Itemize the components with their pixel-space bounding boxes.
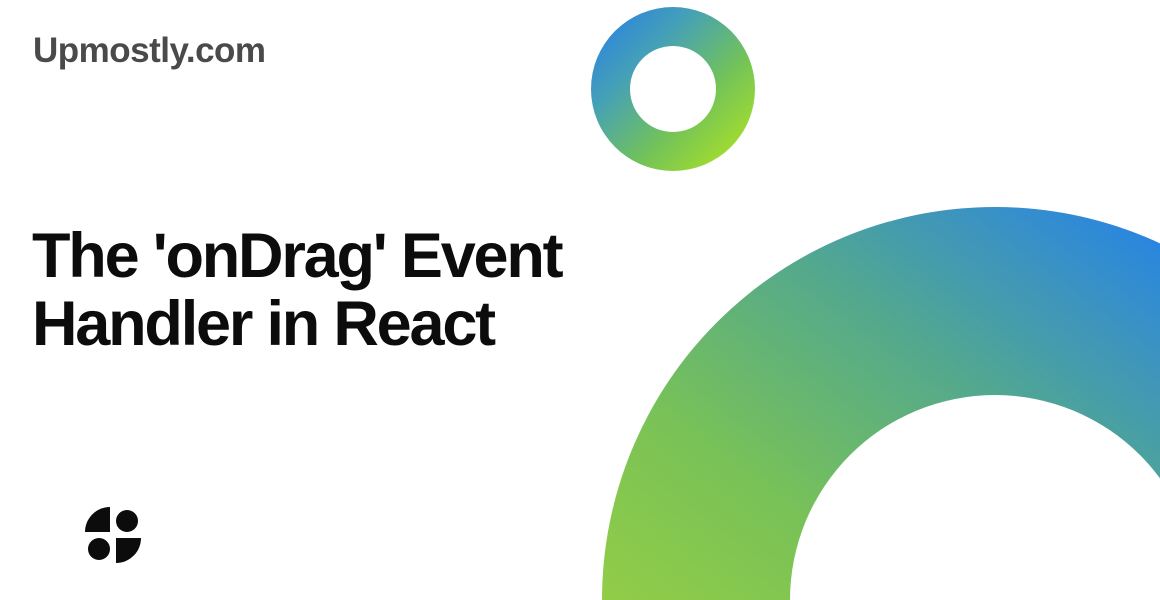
page-title: The 'onDrag' Event Handler in React (32, 222, 632, 358)
site-name: Upmostly.com (33, 30, 266, 72)
upmostly-logo-mark-icon (85, 507, 141, 563)
page-title-line-1: The 'onDrag' Event (32, 222, 632, 290)
large-arc-shape (595, 180, 1160, 600)
small-donut-shape (585, 0, 765, 180)
page-title-line-2: Handler in React (32, 290, 632, 358)
article-cover-card: Upmostly.com The 'onDrag' Event Handler … (0, 0, 1160, 600)
